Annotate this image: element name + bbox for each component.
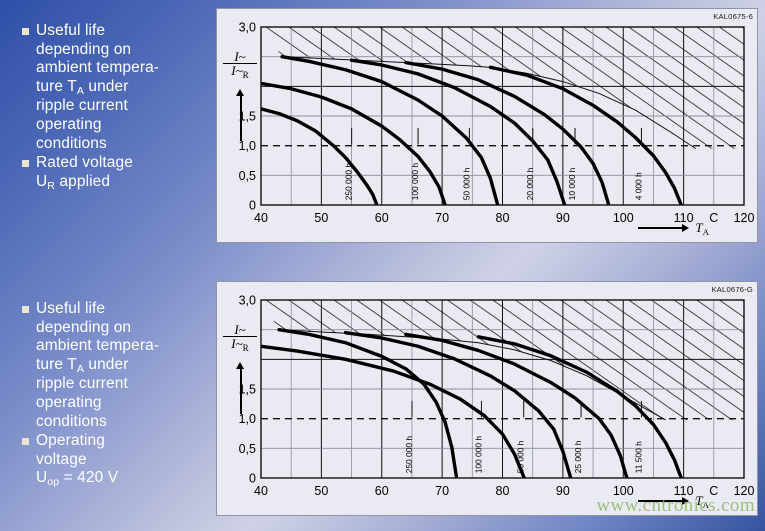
y-axis-denominator: I~R (223, 64, 257, 79)
bullet-square-icon (22, 160, 29, 167)
bullet-text: Useful lifedepending onambient tempera-t… (36, 22, 214, 153)
y-tick-label: 3,0 (239, 21, 256, 35)
y-axis-arrow-stem (240, 95, 242, 141)
x-tick-label: 50 (314, 484, 328, 498)
series-label: 10 000 h (567, 167, 577, 200)
bullet-square-icon (22, 28, 29, 35)
bullet-text: Rated voltageUR applied (36, 154, 214, 192)
y-axis-arrow-stem (240, 368, 242, 414)
x-tick-label: 40 (254, 211, 268, 225)
x-tick-label: 70 (435, 211, 449, 225)
bullet-square-icon (22, 306, 29, 313)
x-tick-label: 90 (556, 484, 570, 498)
chart-svg-top: 250 000 h100 000 h50 000 h20 000 h10 000… (217, 9, 759, 242)
y-tick-label: 0,5 (239, 169, 256, 183)
series-label: 20 000 h (525, 167, 535, 200)
series-label: 250 000 h (344, 163, 354, 201)
chart-svg-bottom: 250 000 h100 000 h50 000 h25 000 h11 500… (217, 282, 759, 515)
x-tick-label: 120 (734, 211, 755, 225)
bullet-text: OperatingvoltageUop = 420 V (36, 432, 214, 489)
series-label: 50 000 h (516, 440, 526, 473)
x-tick-label: 50 (314, 211, 328, 225)
x-tick-label: 60 (375, 484, 389, 498)
series-label: 50 000 h (461, 167, 471, 200)
x-axis-arrow-stem (638, 227, 682, 229)
list-item: Useful lifedepending onambient tempera-t… (22, 300, 214, 431)
list-item: Rated voltageUR applied (22, 154, 214, 192)
y-axis-label: I~ I~R (223, 51, 257, 79)
bullet-square-icon (22, 438, 29, 445)
chart-id-badge: KAL0676-G (712, 285, 753, 294)
list-item: OperatingvoltageUop = 420 V (22, 432, 214, 489)
bullet-list-top: Useful lifedepending onambient tempera-t… (22, 22, 214, 193)
y-tick-label: 1,0 (239, 412, 256, 426)
site-watermark: www.cntronics.com (596, 495, 755, 517)
series-label: 25 000 h (573, 440, 583, 473)
x-tick-label: 70 (435, 484, 449, 498)
y-tick-label: 0,5 (239, 442, 256, 456)
chart-panel-bottom: KAL0676-G I~ I~R 250 000 h100 000 h50 00… (216, 281, 758, 516)
x-tick-label: 60 (375, 211, 389, 225)
x-tick-label: 100 (613, 211, 634, 225)
series-label: 100 000 h (410, 163, 420, 201)
x-axis-arrow: TA (638, 220, 709, 236)
series-label: 250 000 h (404, 436, 414, 474)
x-axis-arrow-icon (682, 224, 689, 232)
chart-id-badge: KAL0675-6 (713, 12, 753, 21)
x-tick-label: 40 (254, 484, 268, 498)
series-label: 11 500 h (633, 441, 643, 473)
y-tick-label: 3,0 (239, 294, 256, 308)
bullet-text: Useful lifedepending onambient tempera-t… (36, 300, 214, 431)
x-tick-label: 80 (496, 484, 510, 498)
series-label: 4 000 h (633, 172, 643, 200)
list-item: Useful lifedepending onambient tempera-t… (22, 22, 214, 153)
y-axis-denominator: I~R (223, 337, 257, 352)
x-tick-label: 80 (496, 211, 510, 225)
y-tick-label: 1,0 (239, 139, 256, 153)
x-axis-unit: C (709, 211, 718, 225)
chart-panel-top: KAL0675-6 I~ I~R 250 000 h100 000 h50 00… (216, 8, 758, 243)
x-axis-label: TA (695, 220, 709, 236)
bullet-list-bottom: Useful lifedepending onambient tempera-t… (22, 300, 214, 490)
series-label: 100 000 h (473, 436, 483, 474)
x-tick-label: 90 (556, 211, 570, 225)
y-axis-label: I~ I~R (223, 324, 257, 352)
